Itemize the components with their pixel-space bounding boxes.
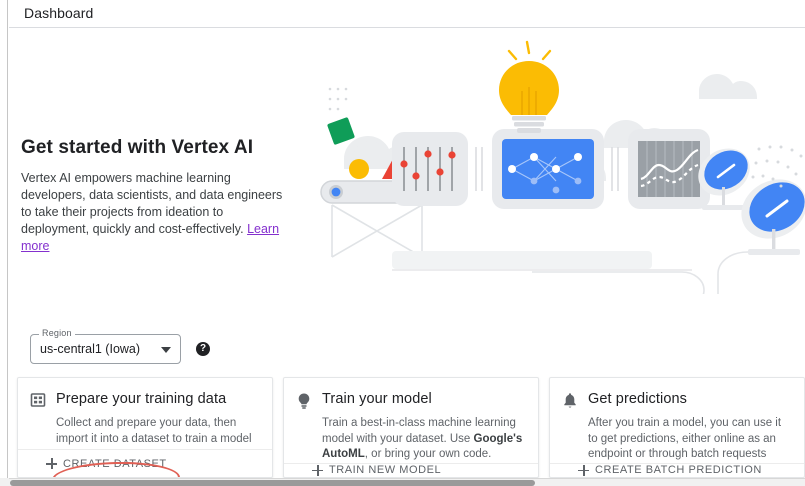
region-label: Region bbox=[39, 328, 75, 338]
chevron-down-icon bbox=[161, 347, 171, 353]
card-description-text-after: , or bring your own code. bbox=[365, 448, 492, 460]
train-new-model-label: TRAIN NEW MODEL bbox=[329, 464, 441, 476]
green-diamond bbox=[327, 117, 355, 145]
dotted-trail bbox=[329, 88, 348, 111]
train-new-model-button[interactable]: TRAIN NEW MODEL bbox=[312, 464, 441, 476]
left-gutter bbox=[0, 0, 8, 478]
neural-net-panel bbox=[492, 129, 604, 209]
create-dataset-label: CREATE DATASET bbox=[63, 458, 167, 470]
bell-icon bbox=[562, 392, 578, 410]
lightbulb-icon bbox=[296, 392, 312, 410]
plus-icon bbox=[312, 465, 323, 476]
table-grid-icon bbox=[30, 392, 46, 410]
hero-text-block: Get started with Vertex AI Vertex AI emp… bbox=[21, 137, 293, 255]
horizontal-scrollbar[interactable] bbox=[9, 478, 805, 486]
panel-separator-2 bbox=[612, 147, 618, 191]
create-dataset-button[interactable]: CREATE DATASET bbox=[46, 458, 167, 470]
card-footer: TRAIN NEW MODEL bbox=[284, 463, 538, 478]
card-header: Prepare your training data bbox=[18, 378, 272, 410]
card-title: Train your model bbox=[322, 391, 432, 408]
platform bbox=[392, 251, 692, 271]
card-description-text: After you train a model, you can use it … bbox=[588, 417, 781, 460]
card-title: Get predictions bbox=[588, 391, 687, 408]
page-title: Dashboard bbox=[24, 5, 93, 21]
horizontal-scrollbar-thumb[interactable] bbox=[10, 480, 535, 486]
region-value: us-central1 (Iowa) bbox=[40, 342, 140, 356]
hero-description: Vertex AI empowers machine learning deve… bbox=[21, 170, 293, 255]
sliders-panel bbox=[392, 132, 468, 206]
card-description: Collect and prepare your data, then impo… bbox=[18, 410, 272, 449]
yellow-circle bbox=[349, 159, 369, 179]
getting-started-cards: Prepare your training data Collect and p… bbox=[17, 377, 805, 478]
hero-title: Get started with Vertex AI bbox=[21, 137, 293, 159]
card-footer: CREATE DATASET bbox=[18, 449, 272, 477]
card-description: Train a best-in-class machine learning m… bbox=[284, 410, 538, 463]
app-window: Dashboard Get started with Vertex AI Ver… bbox=[0, 0, 805, 486]
card-description: After you train a model, you can use it … bbox=[550, 410, 804, 463]
lightbulb bbox=[499, 42, 559, 133]
card-prepare-training-data: Prepare your training data Collect and p… bbox=[17, 377, 273, 478]
card-get-predictions: Get predictions After you train a model,… bbox=[549, 377, 805, 478]
window-header: Dashboard bbox=[9, 0, 805, 28]
panel-separator-1 bbox=[476, 147, 482, 191]
region-select[interactable]: Region us-central1 (Iowa) bbox=[30, 334, 181, 364]
create-batch-prediction-button[interactable]: CREATE BATCH PREDICTION bbox=[578, 464, 762, 476]
hero-banner: Get started with Vertex AI Vertex AI emp… bbox=[9, 29, 805, 294]
plus-icon bbox=[46, 458, 57, 469]
hero-illustration bbox=[304, 29, 805, 294]
help-icon[interactable]: ? bbox=[196, 342, 210, 356]
card-header: Train your model bbox=[284, 378, 538, 410]
plus-icon bbox=[578, 465, 589, 476]
create-batch-prediction-label: CREATE BATCH PREDICTION bbox=[595, 464, 762, 476]
scrollbar-corner bbox=[0, 478, 9, 486]
hero-description-text: Vertex AI empowers machine learning deve… bbox=[21, 171, 282, 236]
card-train-your-model: Train your model Train a best-in-class m… bbox=[283, 377, 539, 478]
card-description-text: Collect and prepare your data, then impo… bbox=[56, 417, 252, 445]
page-content: Get started with Vertex AI Vertex AI emp… bbox=[9, 29, 805, 478]
card-header: Get predictions bbox=[550, 378, 804, 410]
card-title: Prepare your training data bbox=[56, 391, 226, 408]
region-row: Region us-central1 (Iowa) ? bbox=[21, 329, 421, 369]
chart-panel bbox=[628, 129, 710, 209]
card-footer: CREATE BATCH PREDICTION bbox=[550, 463, 804, 478]
